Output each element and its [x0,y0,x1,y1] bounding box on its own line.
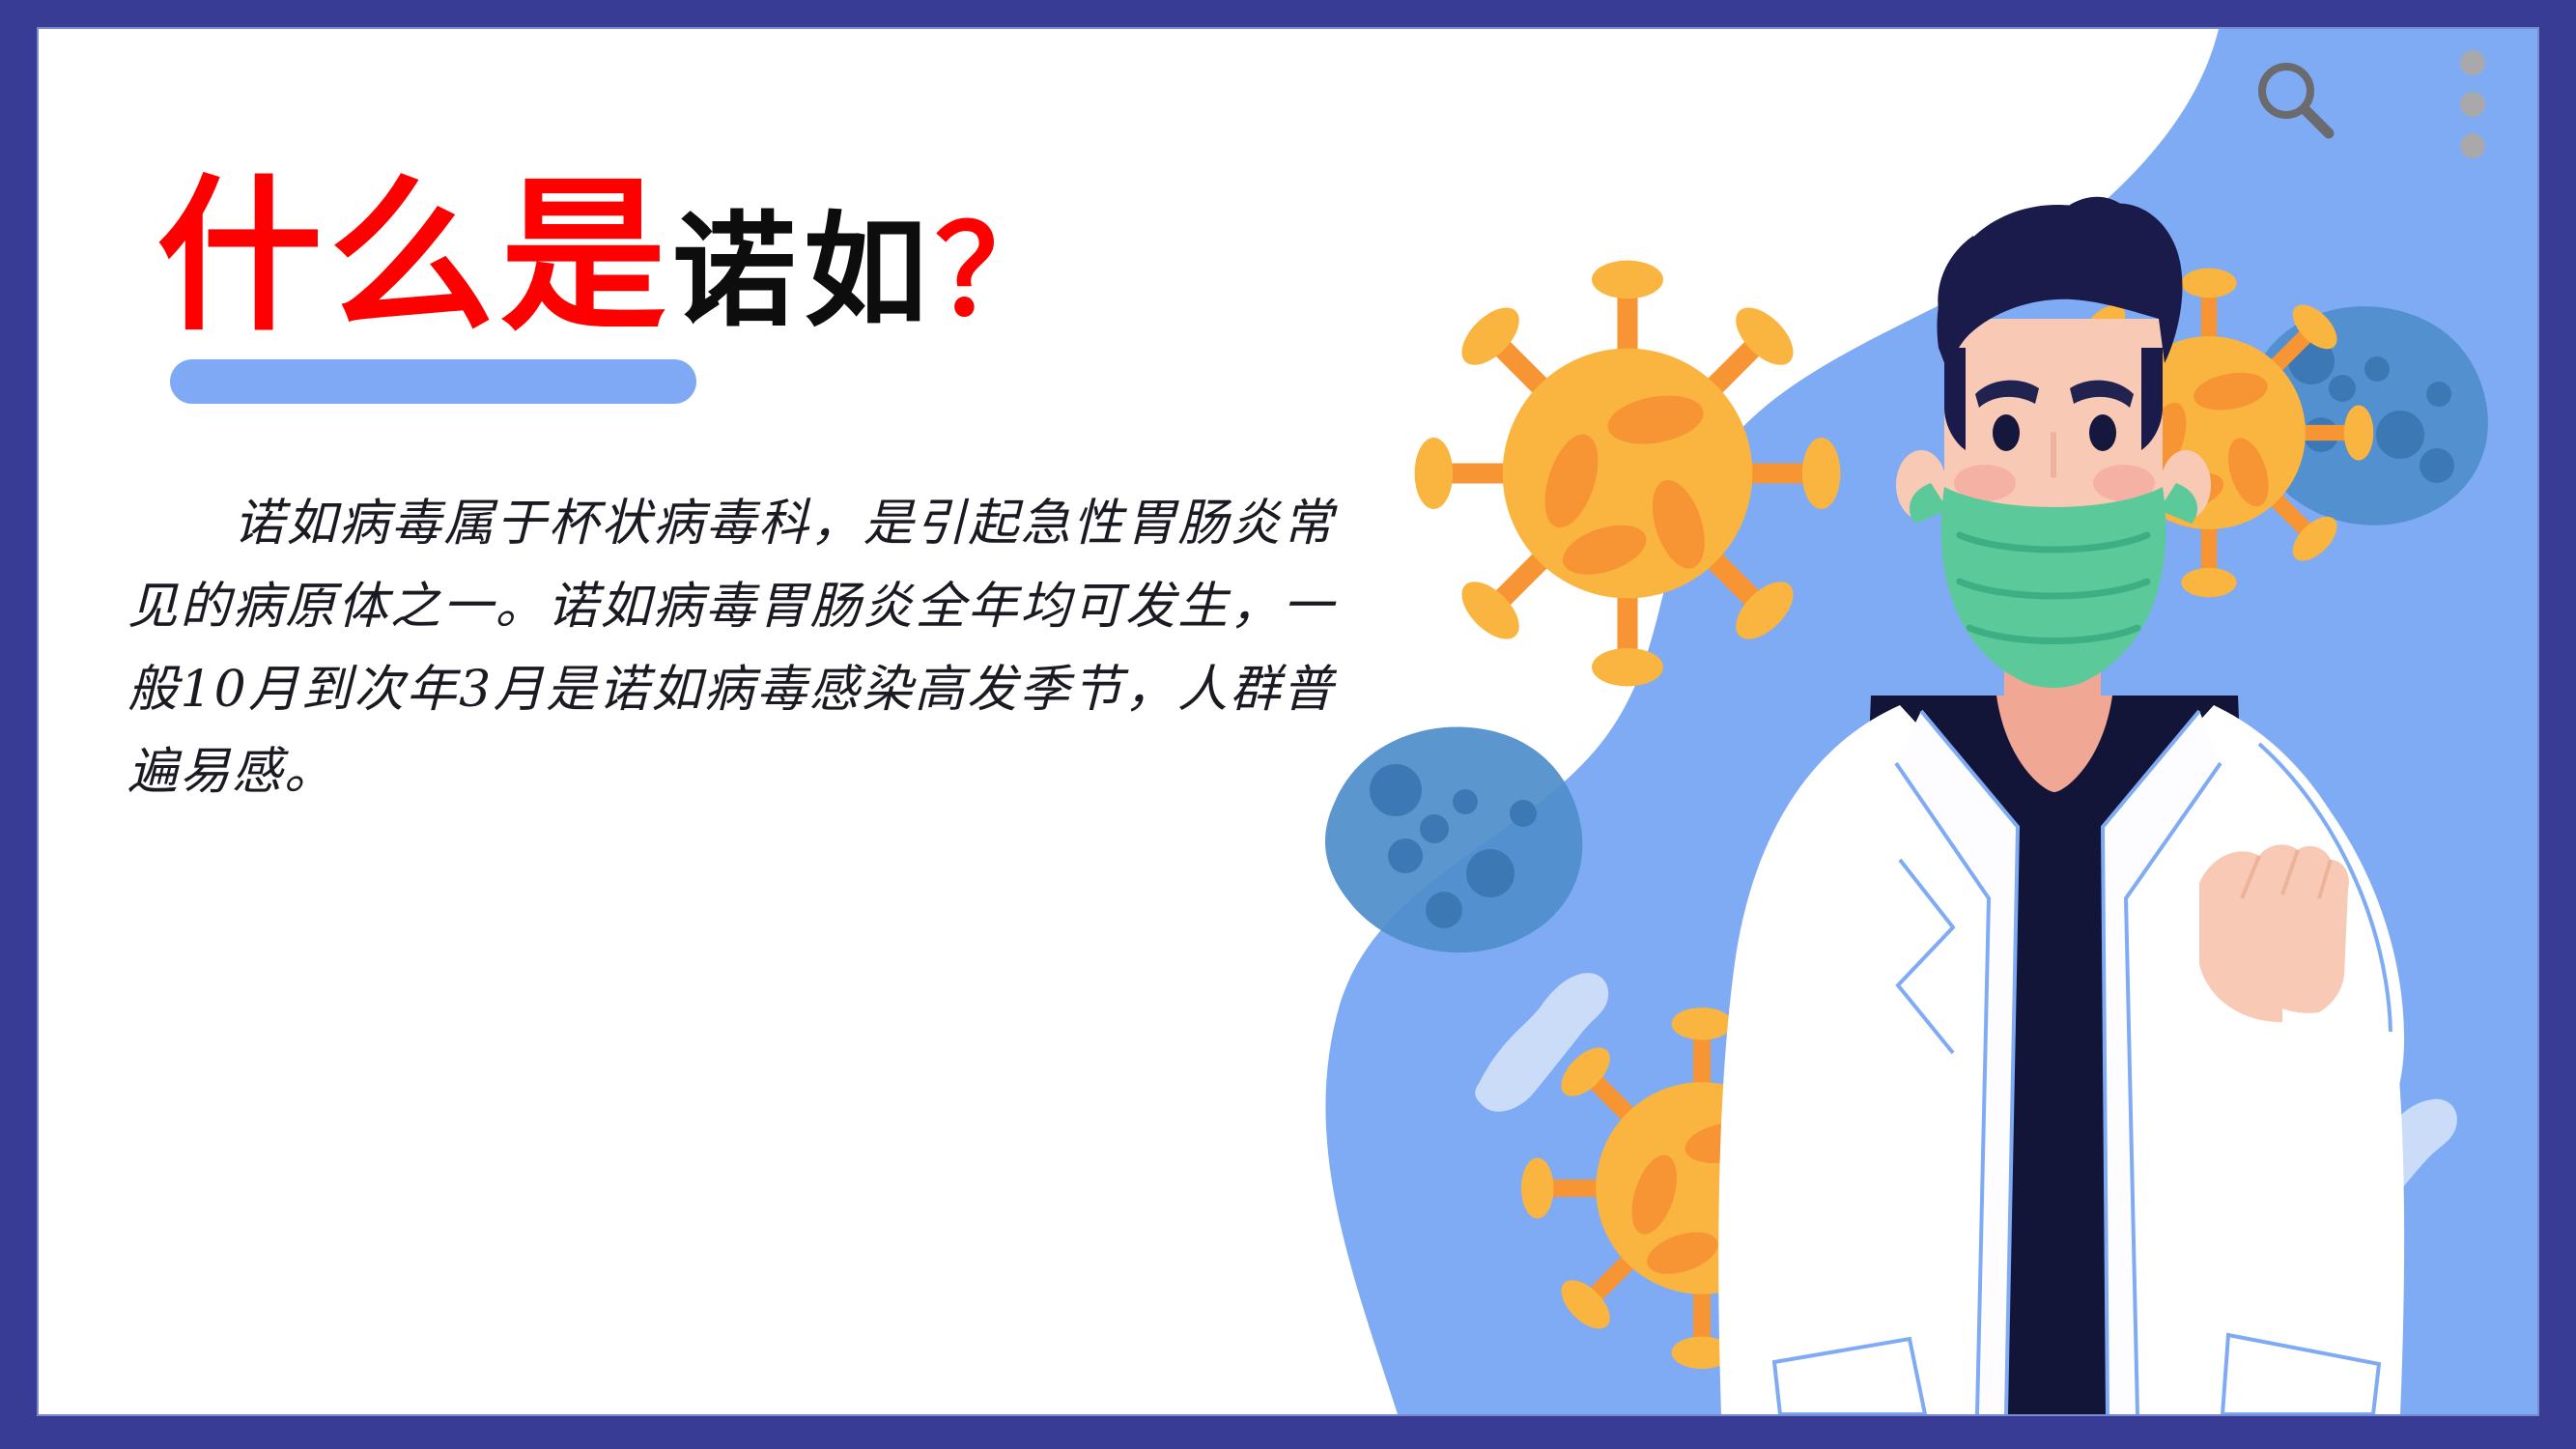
bacteria-blob-left [1325,726,1582,952]
slide-canvas: 什么是诺如？ 诺如病毒属于杯状病毒科，是引起急性胃肠炎常见的病原体之一。诺如病毒… [0,0,2576,1449]
title-question-mark: ？ [935,200,1059,344]
page-title: 什么是诺如？ [156,174,1316,340]
title-highlight: 什么是 [156,159,672,354]
menu-dot-1 [2460,50,2485,75]
slide-content-area: 什么是诺如？ 诺如病毒属于杯状病毒科，是引起急性胃肠炎常见的病原体之一。诺如病毒… [39,29,2537,1414]
illustration-doctor-viruses [1233,29,2537,1414]
search-icon[interactable] [2251,58,2340,152]
title-underline-bar [170,359,696,404]
menu-dot-2 [2460,92,2485,117]
body-paragraph: 诺如病毒属于杯状病毒科，是引起急性胃肠炎常见的病原体之一。诺如病毒胃肠炎全年均可… [127,483,1335,814]
more-vertical-icon[interactable] [2447,46,2499,162]
top-controls [2251,46,2499,162]
menu-dot-3 [2460,133,2485,158]
title-rest: 诺如 [672,200,935,344]
text-column: 什么是诺如？ 诺如病毒属于杯状病毒科，是引起急性胃肠炎常见的病原体之一。诺如病毒… [127,174,1316,865]
